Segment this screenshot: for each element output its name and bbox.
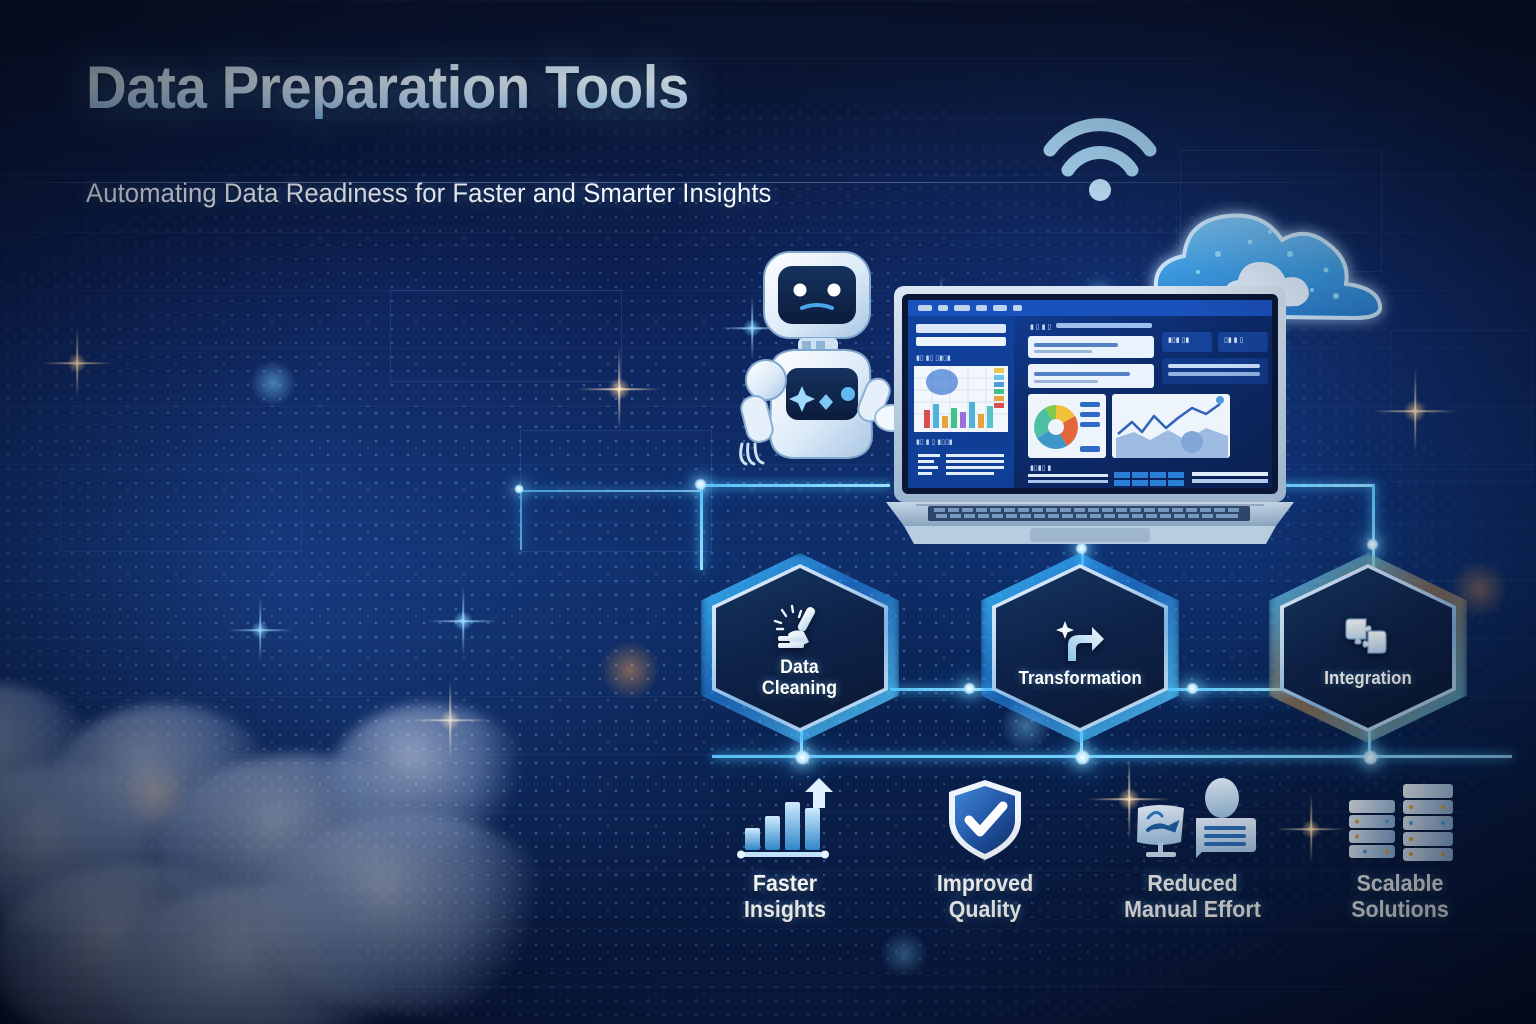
svg-text:▮▯▮ ▯▮: ▮▯▮ ▯▮ <box>1168 337 1189 344</box>
benefit-faster-insights[interactable]: FasterInsights <box>700 778 870 922</box>
subtitle-wrap: Automating Data Readiness for Faster and… <box>86 178 808 209</box>
bar-chart-up-icon <box>700 778 870 862</box>
benefits-row: FasterInsights ImprovedQuality <box>700 778 1500 948</box>
broom-icon <box>772 604 828 654</box>
svg-text:▮▯ ▮ ▯ ▮▯▯▮: ▮▯ ▮ ▯ ▮▯▯▮ <box>916 439 953 446</box>
pipeline-row: DataCleaning <box>0 556 1536 726</box>
infographic-poster: Data Preparation Tools Automating Data R… <box>0 0 1536 1024</box>
pipeline-step-transformation[interactable]: Transformation <box>992 564 1168 732</box>
benefit-label: ImprovedQuality <box>906 870 1064 922</box>
benefit-label: ReducedManual Effort <box>1093 870 1293 922</box>
wifi-icon <box>1040 108 1160 208</box>
benefit-label: FasterInsights <box>706 870 864 922</box>
svg-text:▮▯ ▮▯ ▯▮▯▮: ▮▯ ▮▯ ▯▮▯▮ <box>916 355 951 362</box>
benefit-reduced-manual-effort[interactable]: ReducedManual Effort <box>1085 778 1300 922</box>
header: Data Preparation Tools <box>86 56 1086 119</box>
puzzle-pieces-icon <box>1340 615 1396 665</box>
benefit-improved-quality[interactable]: ImprovedQuality <box>900 778 1070 922</box>
benefit-label: ScalableSolutions <box>1321 870 1479 922</box>
pipeline-step-data-cleaning[interactable]: DataCleaning <box>712 564 888 732</box>
person-monitor-icon <box>1085 778 1300 862</box>
shield-check-icon <box>900 778 1070 862</box>
page-subtitle: Automating Data Readiness for Faster and… <box>86 178 771 209</box>
svg-text:▮ ▯ ▮ ▯: ▮ ▯ ▮ ▯ <box>1030 324 1051 331</box>
pipeline-step-integration[interactable]: Integration <box>1280 564 1456 732</box>
page-title: Data Preparation Tools <box>86 56 1026 119</box>
pipeline-step-label: Integration <box>1324 669 1412 689</box>
pipeline-step-label: DataCleaning <box>762 658 837 700</box>
laptop-icon: ▮▯ ▮▯ ▯▮▯▮ <box>880 282 1300 562</box>
svg-text:▯▮ ▮ ▯: ▯▮ ▮ ▯ <box>1224 337 1243 344</box>
curved-arrow-icon <box>1052 615 1108 665</box>
benefit-scalable-solutions[interactable]: ScalableSolutions <box>1315 778 1485 922</box>
svg-text:▮▯▮▯ ▮: ▮▯▮▯ ▮ <box>1030 465 1051 472</box>
pipeline-step-label: Transformation <box>1018 669 1141 689</box>
server-rack-icon <box>1315 778 1485 862</box>
